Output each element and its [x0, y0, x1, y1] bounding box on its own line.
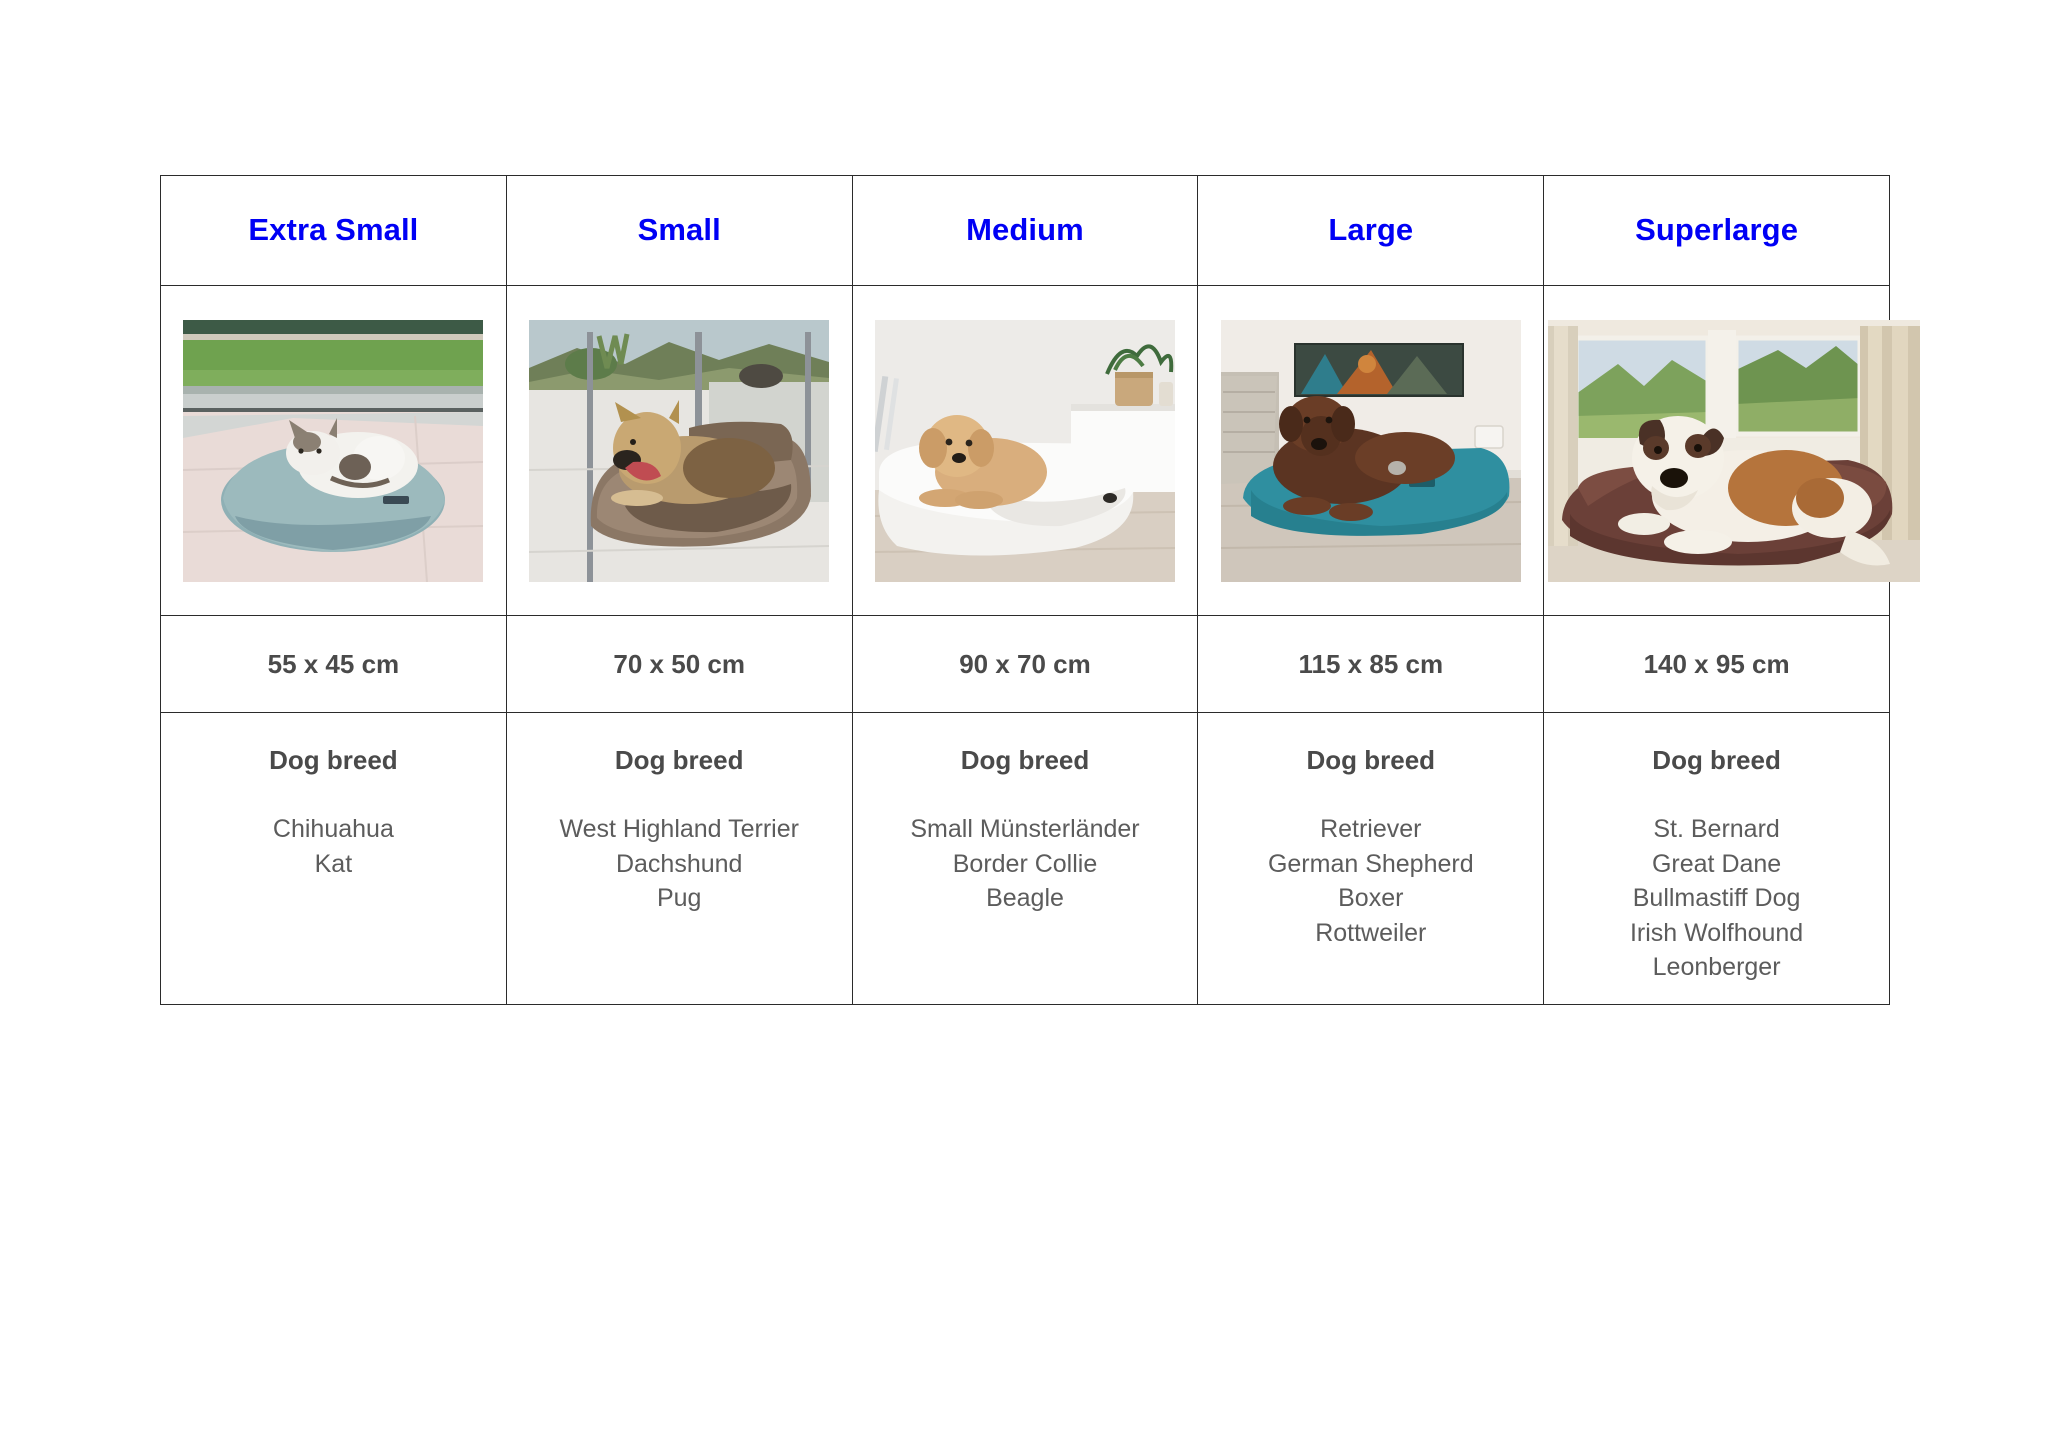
list-item: Small Münsterländer: [853, 812, 1198, 847]
category-title-extra-small: Extra Small: [161, 213, 506, 247]
cell-header-extra-small: Extra Small: [161, 176, 507, 286]
list-item: German Shepherd: [1198, 847, 1543, 882]
cell-dimensions-medium: 90 x 70 cm: [852, 616, 1198, 713]
list-item: Boxer: [1198, 881, 1543, 916]
breed-heading-extra-small: Dog breed: [161, 745, 506, 776]
photo-st-bernard-on-brown-bed: [1548, 320, 1920, 582]
breed-list-extra-small: Chihuahua Kat: [161, 812, 506, 881]
category-title-superlarge: Superlarge: [1544, 213, 1889, 247]
photo-cockapoo-on-white-bed: [875, 320, 1175, 582]
cell-dimensions-extra-small: 55 x 45 cm: [161, 616, 507, 713]
category-title-small: Small: [507, 213, 852, 247]
list-item: Dachshund: [507, 847, 852, 882]
cell-photo-superlarge: [1544, 286, 1890, 616]
list-item: Retriever: [1198, 812, 1543, 847]
cell-photo-medium: [852, 286, 1198, 616]
photo-cat-on-light-blue-bed: [183, 320, 483, 582]
list-item: Beagle: [853, 881, 1198, 916]
category-title-large: Large: [1198, 213, 1543, 247]
list-item: Irish Wolfhound: [1544, 916, 1889, 951]
cell-dimensions-large: 115 x 85 cm: [1198, 616, 1544, 713]
breed-list-large: Retriever German Shepherd Boxer Rottweil…: [1198, 812, 1543, 950]
table-row-breeds: Dog breed Chihuahua Kat Dog breed West H…: [161, 713, 1890, 1005]
cell-breeds-superlarge: Dog breed St. Bernard Great Dane Bullmas…: [1544, 713, 1890, 1005]
cell-photo-large: [1198, 286, 1544, 616]
dog-bed-size-table: Extra Small Small Medium Large Superlarg…: [160, 175, 1890, 1005]
cell-photo-small: [506, 286, 852, 616]
dimension-medium: 90 x 70 cm: [853, 649, 1198, 680]
table-row-dimensions: 55 x 45 cm 70 x 50 cm 90 x 70 cm 115 x 8…: [161, 616, 1890, 713]
cell-breeds-large: Dog breed Retriever German Shepherd Boxe…: [1198, 713, 1544, 1005]
breed-heading-medium: Dog breed: [853, 745, 1198, 776]
cell-breeds-extra-small: Dog breed Chihuahua Kat: [161, 713, 507, 1005]
list-item: St. Bernard: [1544, 812, 1889, 847]
cell-breeds-medium: Dog breed Small Münsterländer Border Col…: [852, 713, 1198, 1005]
breed-list-superlarge: St. Bernard Great Dane Bullmastiff Dog I…: [1544, 812, 1889, 985]
cell-header-medium: Medium: [852, 176, 1198, 286]
dimension-large: 115 x 85 cm: [1198, 649, 1543, 680]
cell-header-small: Small: [506, 176, 852, 286]
table-row-photos: [161, 286, 1890, 616]
breed-heading-large: Dog breed: [1198, 745, 1543, 776]
dimension-small: 70 x 50 cm: [507, 649, 852, 680]
photo-terrier-on-brown-leather-bed: [529, 320, 829, 582]
category-title-medium: Medium: [853, 213, 1198, 247]
list-item: Chihuahua: [161, 812, 506, 847]
list-item: West Highland Terrier: [507, 812, 852, 847]
breed-list-medium: Small Münsterländer Border Collie Beagle: [853, 812, 1198, 916]
photo-chocolate-labrador-on-teal-bed: [1221, 320, 1521, 582]
breed-heading-superlarge: Dog breed: [1544, 745, 1889, 776]
table-row-category-headers: Extra Small Small Medium Large Superlarg…: [161, 176, 1890, 286]
list-item: Pug: [507, 881, 852, 916]
list-item: Kat: [161, 847, 506, 882]
list-item: Bullmastiff Dog: [1544, 881, 1889, 916]
list-item: Rottweiler: [1198, 916, 1543, 951]
dimension-superlarge: 140 x 95 cm: [1544, 649, 1889, 680]
cell-dimensions-superlarge: 140 x 95 cm: [1544, 616, 1890, 713]
cell-header-large: Large: [1198, 176, 1544, 286]
page-canvas: Extra Small Small Medium Large Superlarg…: [0, 0, 2048, 1448]
cell-header-superlarge: Superlarge: [1544, 176, 1890, 286]
cell-breeds-small: Dog breed West Highland Terrier Dachshun…: [506, 713, 852, 1005]
list-item: Leonberger: [1544, 950, 1889, 985]
dimension-extra-small: 55 x 45 cm: [161, 649, 506, 680]
breed-heading-small: Dog breed: [507, 745, 852, 776]
list-item: Great Dane: [1544, 847, 1889, 882]
cell-dimensions-small: 70 x 50 cm: [506, 616, 852, 713]
cell-photo-extra-small: [161, 286, 507, 616]
breed-list-small: West Highland Terrier Dachshund Pug: [507, 812, 852, 916]
list-item: Border Collie: [853, 847, 1198, 882]
